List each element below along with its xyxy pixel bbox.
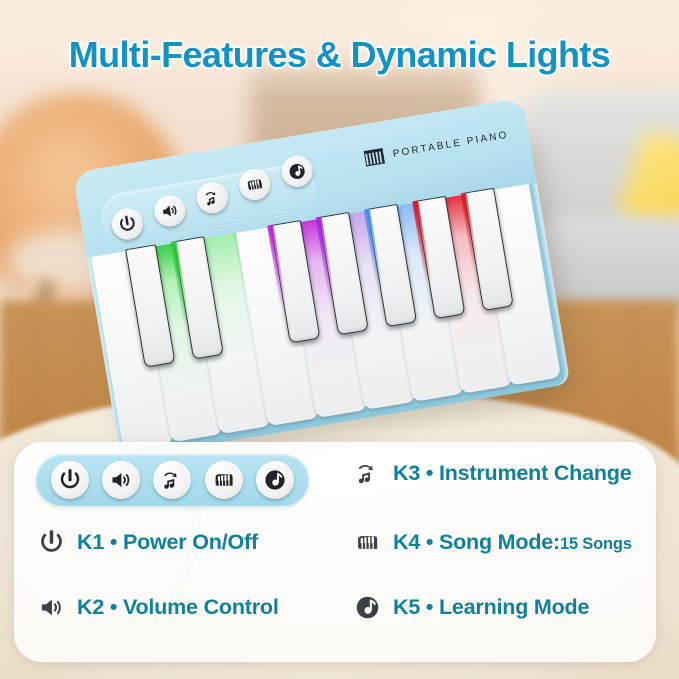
brand-piano-keys-icon bbox=[363, 147, 386, 167]
instrument-change-icon bbox=[160, 468, 184, 492]
brand-mark: PORTABLE PIANO bbox=[363, 127, 510, 168]
legend-label-k2: K2 • Volume Control bbox=[77, 595, 279, 620]
legend-item-k4: K4 • Song Mode:15 Songs bbox=[352, 527, 632, 557]
product-feature-image: Multi-Features & Dynamic Lights bbox=[0, 0, 679, 679]
music-note-circle-icon bbox=[286, 160, 308, 182]
legend-item-k1: K1 • Power On/Off bbox=[36, 527, 258, 557]
volume-icon bbox=[109, 468, 133, 492]
piano-keys-icon bbox=[244, 174, 266, 196]
instrument-change-icon bbox=[201, 187, 223, 209]
legend-instrument-change-button[interactable] bbox=[153, 461, 191, 499]
legend-label-k1: K1 • Power On/Off bbox=[77, 530, 258, 555]
legend-song-mode-button[interactable] bbox=[205, 461, 243, 499]
legend-button-strip bbox=[36, 454, 309, 506]
power-icon bbox=[117, 213, 139, 235]
power-icon bbox=[58, 468, 82, 492]
piano-keys-icon bbox=[352, 527, 382, 557]
power-icon bbox=[36, 527, 66, 557]
legend-item-k2: K2 • Volume Control bbox=[36, 592, 279, 622]
instrument-change-icon bbox=[352, 458, 382, 488]
brand-label: PORTABLE PIANO bbox=[392, 130, 509, 160]
page-title: Multi-Features & Dynamic Lights bbox=[0, 34, 679, 76]
legend-item-k3: K3 • Instrument Change bbox=[352, 458, 631, 488]
legend-learning-mode-button[interactable] bbox=[256, 461, 294, 499]
legend-label-k4-count: 15 Songs bbox=[560, 535, 632, 553]
legend-item-k5: K5 • Learning Mode bbox=[352, 592, 589, 622]
music-note-circle-icon bbox=[263, 468, 287, 492]
volume-icon bbox=[159, 200, 181, 222]
legend-label-k4: K4 • Song Mode:15 Songs bbox=[393, 530, 632, 555]
legend-label-k3: K3 • Instrument Change bbox=[393, 461, 631, 486]
legend-label-k5: K5 • Learning Mode bbox=[393, 595, 589, 620]
legend-power-button[interactable] bbox=[51, 461, 89, 499]
music-note-circle-icon bbox=[352, 592, 382, 622]
legend-volume-button[interactable] bbox=[102, 461, 140, 499]
volume-icon bbox=[36, 592, 66, 622]
piano-keys-icon bbox=[212, 468, 236, 492]
